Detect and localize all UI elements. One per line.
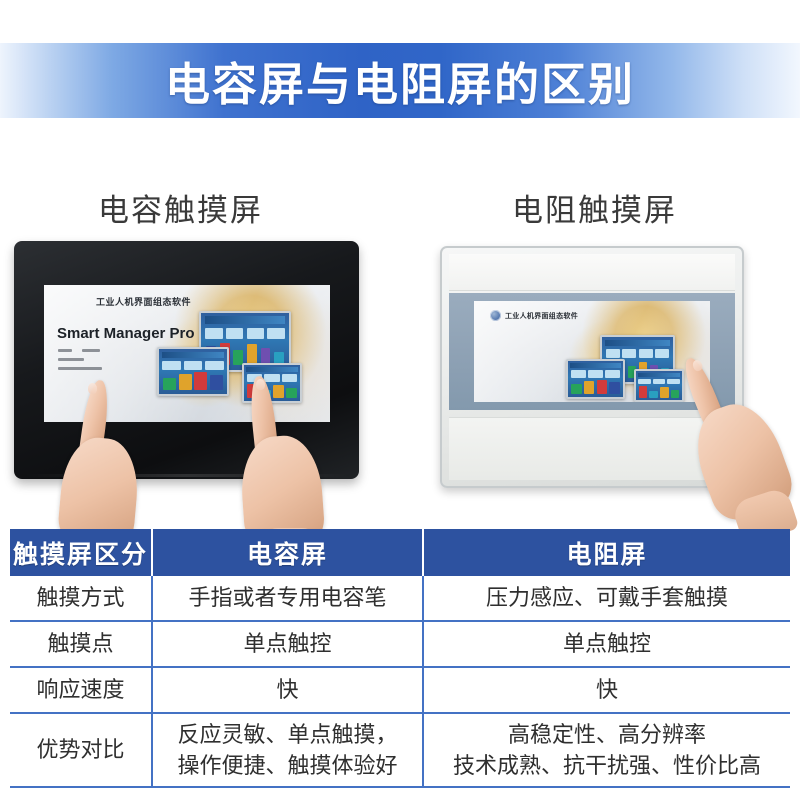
cell-resistive: 快 [423, 667, 790, 713]
resistive-device-top-strip [449, 254, 735, 291]
hexagon-logo-icon [490, 310, 501, 321]
row-label: 响应速度 [10, 667, 152, 713]
hmi-brand-text: Smart Manager Pro [57, 325, 195, 342]
table-row: 响应速度 快 快 [10, 667, 790, 713]
cell-capacitive: 快 [152, 667, 423, 713]
column-header-capacitive: 电容屏 [152, 529, 423, 576]
hmi-panel-small [242, 363, 302, 403]
cell-capacitive: 单点触控 [152, 621, 423, 667]
column-header-resistive: 电阻屏 [423, 529, 790, 576]
table-body: 触摸方式 手指或者专用电容笔 压力感应、可戴手套触摸 触摸点 单点触控 单点触控… [10, 576, 790, 787]
capacitive-device: 工业人机界面组态软件 Smart Manager Pro [14, 241, 359, 479]
cell-resistive: 单点触控 [423, 621, 790, 667]
hmi-header-row: 工业人机界面组态软件 [490, 310, 578, 321]
cell-capacitive: 手指或者专用电容笔 [152, 576, 423, 621]
section-heading-capacitive: 电容触摸屏 [98, 185, 263, 230]
hmi-meta-lines [58, 349, 102, 376]
row-label: 触摸点 [10, 621, 152, 667]
hmi-splash-screen: 工业人机界面组态软件 Smart Manager Pro [44, 285, 330, 422]
infographic-page: 电容屏与电阻屏的区别 电容触摸屏 电阻触摸屏 工业人机界面组态软件 Smart … [0, 0, 800, 800]
resistive-device-screen: 工业人机界面组态软件 [474, 301, 710, 402]
page-title: 电容屏与电阻屏的区别 [0, 43, 800, 118]
hmi-panel-medium [157, 347, 229, 396]
table-header: 触摸屏区分 电容屏 电阻屏 [10, 529, 790, 576]
cell-capacitive: 反应灵敏、单点触摸， 操作便捷、触摸体验好 [152, 713, 423, 787]
capacitive-device-screen: 工业人机界面组态软件 Smart Manager Pro [44, 285, 330, 422]
hmi-splash-screen: 工业人机界面组态软件 [474, 301, 710, 402]
column-header-category: 触摸屏区分 [10, 529, 152, 576]
header-banner: 电容屏与电阻屏的区别 [0, 43, 800, 118]
table-row: 触摸点 单点触控 单点触控 [10, 621, 790, 667]
table-header-row: 触摸屏区分 电容屏 电阻屏 [10, 529, 790, 576]
hmi-panel-small [634, 369, 684, 402]
cell-resistive: 压力感应、可戴手套触摸 [423, 576, 790, 621]
row-label: 优势对比 [10, 713, 152, 787]
hmi-header-text: 工业人机界面组态软件 [505, 311, 578, 321]
resistive-device: 工业人机界面组态软件 [440, 246, 744, 488]
device-illustrations: 工业人机界面组态软件 Smart Manager Pro [0, 236, 800, 528]
hmi-panel-medium [566, 359, 625, 399]
hmi-header-text: 工业人机界面组态软件 [96, 295, 191, 308]
resistive-device-bottom-strip [449, 417, 735, 480]
table-row: 优势对比 反应灵敏、单点触摸， 操作便捷、触摸体验好 高稳定性、高分辨率 技术成… [10, 713, 790, 787]
section-heading-resistive: 电阻触摸屏 [512, 185, 677, 230]
table-row: 触摸方式 手指或者专用电容笔 压力感应、可戴手套触摸 [10, 576, 790, 621]
resistive-device-inner-frame: 工业人机界面组态软件 [449, 293, 735, 410]
row-label: 触摸方式 [10, 576, 152, 621]
comparison-table: 触摸屏区分 电容屏 电阻屏 触摸方式 手指或者专用电容笔 压力感应、可戴手套触摸… [10, 529, 790, 788]
cell-resistive: 高稳定性、高分辨率 技术成熟、抗干扰强、性价比高 [423, 713, 790, 787]
